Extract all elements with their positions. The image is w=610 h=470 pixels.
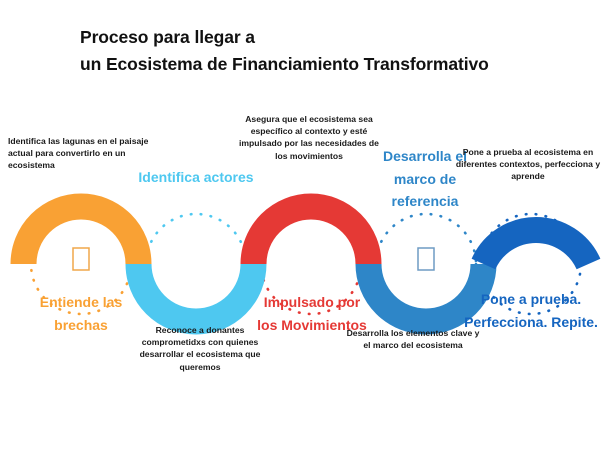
arc-stage-2-light-blue — [139, 264, 254, 321]
label-stage-2: Identifica actores — [137, 166, 255, 189]
caption-stage-1: Identifica las lagunas en el paisaje act… — [8, 135, 158, 172]
caption-stage-2: Reconoce a donantes comprometidxs con qu… — [130, 324, 270, 373]
infographic-canvas: Proceso para llegar a un Ecosistema de F… — [0, 0, 610, 470]
square-placeholder-icon-stage-1 — [73, 248, 89, 270]
arc-stage-5-dark-blue — [484, 230, 589, 264]
arc-stage-3-red — [254, 207, 369, 265]
label-stage-1: Entiende las brechas — [20, 291, 142, 336]
process-wave-diagram — [0, 0, 610, 470]
square-placeholder-icon-stage-4 — [418, 248, 434, 270]
arc-stage-1-orange — [24, 207, 139, 264]
label-stage-5: Pone a prueba. Perfecciona. Repite. — [460, 288, 602, 333]
caption-stage-3: Asegura que el ecosistema sea específico… — [236, 113, 382, 162]
caption-stage-5: Pone a prueba al ecosistema en diferente… — [450, 146, 606, 183]
